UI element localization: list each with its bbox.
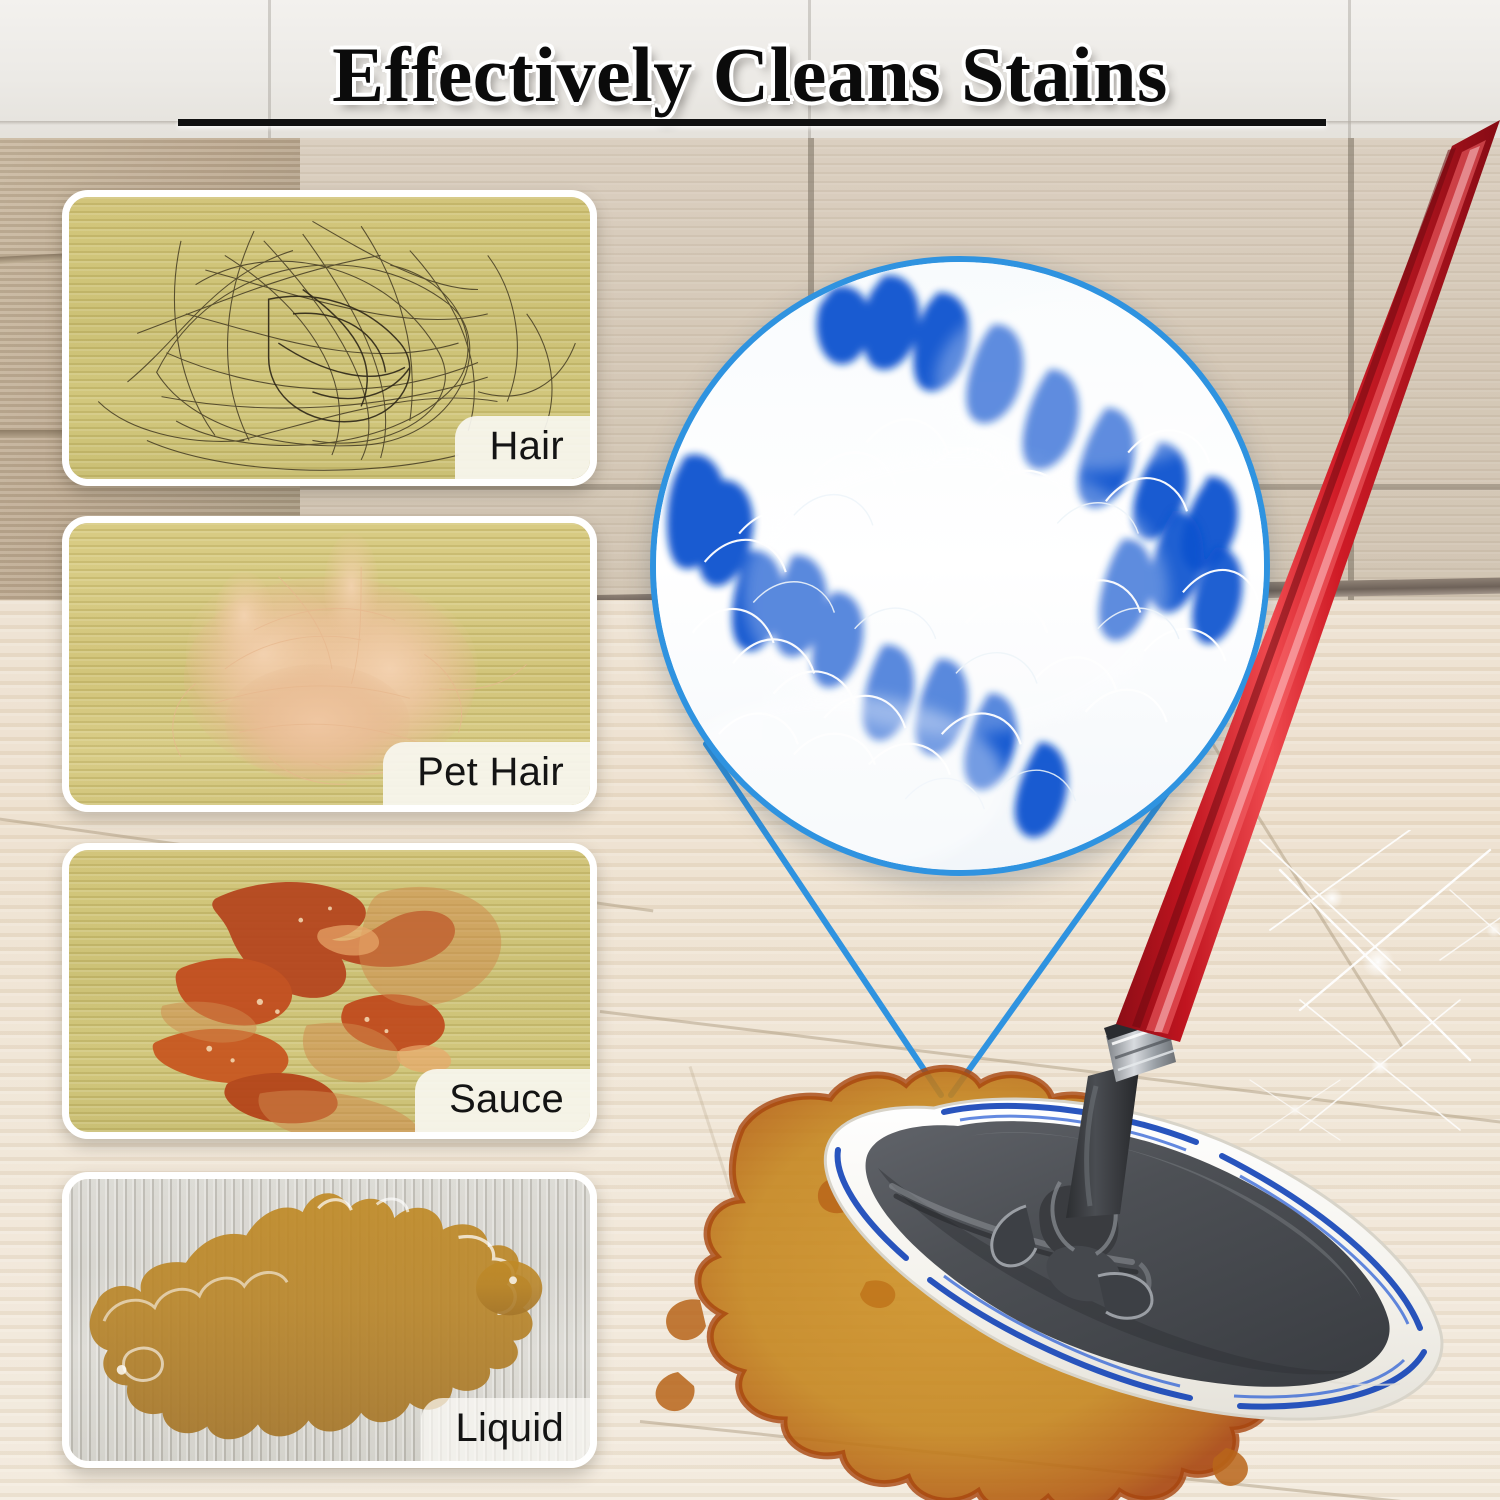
mop-handle	[1116, 120, 1500, 1042]
flat-mop[interactable]	[0, 0, 1500, 1500]
product-feature-image: Effectively Cleans Stains	[0, 0, 1500, 1500]
